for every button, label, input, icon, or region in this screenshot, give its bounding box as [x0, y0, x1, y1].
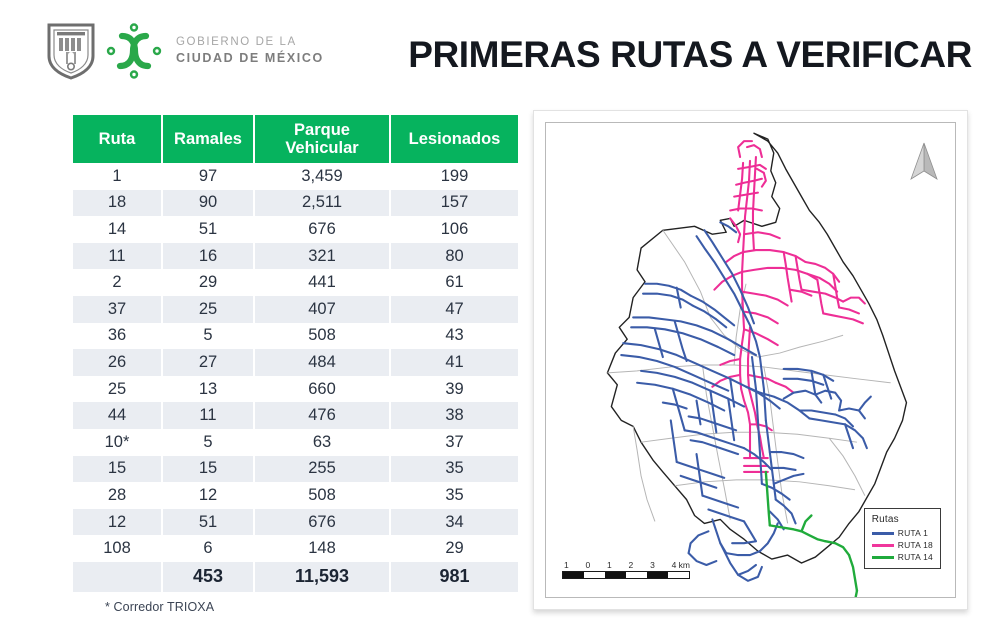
cell-ramales: 29 — [163, 269, 255, 296]
cell-ruta: 1 — [73, 163, 163, 190]
cell-ruta: 25 — [73, 376, 163, 403]
cell-parque-vehicular: 321 — [255, 243, 391, 270]
scalebar-label: 3 — [650, 560, 655, 570]
cell-ramales: 27 — [163, 349, 255, 376]
cell-ramales: 90 — [163, 190, 255, 217]
page-title: PRIMERAS RUTAS A VERIFICAR — [408, 34, 972, 76]
legend-title: Rutas — [872, 514, 933, 525]
table-row: 1451676106 — [73, 216, 518, 243]
map-panel: 101234 km Rutas RUTA 1RUTA 18RUTA 14 — [533, 110, 968, 610]
scalebar-segment — [584, 572, 605, 578]
map-frame[interactable]: 101234 km Rutas RUTA 1RUTA 18RUTA 14 — [545, 122, 956, 598]
column-header-lesionados: Lesionados — [391, 115, 518, 163]
cell-parque-vehicular: 660 — [255, 376, 391, 403]
cell-ramales: 11 — [163, 402, 255, 429]
scalebar-segment — [605, 572, 626, 578]
table-row: 10*56337 — [73, 429, 518, 456]
routes-table-container: Ruta Ramales Parque Vehicular Lesionados… — [73, 115, 518, 592]
cell-lesionados: 106 — [391, 216, 518, 243]
cell-lesionados: 41 — [391, 349, 518, 376]
cell-lesionados: 61 — [391, 269, 518, 296]
cell-parque-vehicular: 476 — [255, 402, 391, 429]
brand-text: GOBIERNO DE LA CIUDAD DE MÉXICO — [176, 36, 324, 66]
cell-lesionados: 35 — [391, 456, 518, 483]
cell-ruta: 2 — [73, 269, 163, 296]
cell-lesionados: 35 — [391, 482, 518, 509]
brand-line-1: GOBIERNO DE LA — [176, 36, 324, 50]
cell-ruta: 18 — [73, 190, 163, 217]
cdmx-knot-logo-icon — [106, 22, 162, 80]
brand-line-2: CIUDAD DE MÉXICO — [176, 51, 324, 66]
cell-parque-vehicular: 676 — [255, 216, 391, 243]
cell-parque-vehicular: 3,459 — [255, 163, 391, 190]
table-row: 262748441 — [73, 349, 518, 376]
cell-lesionados: 37 — [391, 429, 518, 456]
table-row: 18902,511157 — [73, 190, 518, 217]
cell-ruta: 36 — [73, 323, 163, 350]
legend-item-label: RUTA 1 — [898, 528, 928, 538]
table-row: 251366039 — [73, 376, 518, 403]
legend-item-label: RUTA 18 — [898, 540, 933, 550]
cell-parque-vehicular: 148 — [255, 535, 391, 562]
scalebar-label: 1 — [564, 560, 569, 570]
cell-lesionados: 34 — [391, 509, 518, 536]
scalebar-label: 2 — [629, 560, 634, 570]
total-lesionados: 981 — [391, 562, 518, 592]
page-header: GOBIERNO DE LA CIUDAD DE MÉXICO PRIMERAS… — [0, 0, 1000, 100]
cell-ruta: 12 — [73, 509, 163, 536]
scalebar-label: 1 — [607, 560, 612, 570]
ruta-14-lines — [766, 472, 857, 597]
table-header-row: Ruta Ramales Parque Vehicular Lesionados — [73, 115, 518, 163]
table-row: 372540747 — [73, 296, 518, 323]
column-header-parque-line1: Parque — [294, 121, 350, 139]
legend-items: RUTA 1RUTA 18RUTA 14 — [872, 528, 933, 562]
table-row: 111632180 — [73, 243, 518, 270]
cell-lesionados: 39 — [391, 376, 518, 403]
table-row: 281250835 — [73, 482, 518, 509]
cell-ruta: 10* — [73, 429, 163, 456]
cell-lesionados: 29 — [391, 535, 518, 562]
legend-item: RUTA 1 — [872, 528, 933, 538]
scalebar-label: 0 — [586, 560, 591, 570]
cell-ramales: 6 — [163, 535, 255, 562]
table-row: 441147638 — [73, 402, 518, 429]
cell-ramales: 16 — [163, 243, 255, 270]
cell-lesionados: 47 — [391, 296, 518, 323]
table-row: 151525535 — [73, 456, 518, 483]
scalebar-segment — [668, 572, 689, 578]
cell-parque-vehicular: 63 — [255, 429, 391, 456]
cell-ruta: 37 — [73, 296, 163, 323]
column-header-parque-line2: Vehicular — [285, 139, 358, 157]
column-header-ramales: Ramales — [163, 115, 255, 163]
cell-lesionados: 38 — [391, 402, 518, 429]
cell-parque-vehicular: 508 — [255, 482, 391, 509]
cell-parque-vehicular: 407 — [255, 296, 391, 323]
ruta-18-lines — [712, 141, 865, 472]
table-row: 1973,459199 — [73, 163, 518, 190]
total-ramales: 453 — [163, 562, 255, 592]
column-header-ruta: Ruta — [73, 115, 163, 163]
table-body: 1973,45919918902,51115714516761061116321… — [73, 163, 518, 592]
cell-lesionados: 43 — [391, 323, 518, 350]
cell-ruta: 28 — [73, 482, 163, 509]
cell-parque-vehicular: 255 — [255, 456, 391, 483]
legend-color-swatch — [872, 556, 894, 559]
scalebar-segment — [647, 572, 668, 578]
cell-ramales: 13 — [163, 376, 255, 403]
cell-ramales: 51 — [163, 216, 255, 243]
cell-ramales: 15 — [163, 456, 255, 483]
map-legend: Rutas RUTA 1RUTA 18RUTA 14 — [864, 508, 941, 569]
cell-ramales: 5 — [163, 429, 255, 456]
table-row: 108614829 — [73, 535, 518, 562]
table-row: 36550843 — [73, 323, 518, 350]
cell-ruta: 14 — [73, 216, 163, 243]
cell-ruta: 11 — [73, 243, 163, 270]
north-arrow-icon — [909, 141, 939, 185]
legend-item: RUTA 18 — [872, 540, 933, 550]
total-ruta — [73, 562, 163, 592]
table-head: Ruta Ramales Parque Vehicular Lesionados — [73, 115, 518, 163]
cell-lesionados: 80 — [391, 243, 518, 270]
legend-color-swatch — [872, 544, 894, 547]
scalebar-track — [562, 571, 690, 579]
cell-ruta: 26 — [73, 349, 163, 376]
cell-parque-vehicular: 676 — [255, 509, 391, 536]
scalebar-segment — [563, 572, 584, 578]
cell-ruta: 44 — [73, 402, 163, 429]
government-brand: GOBIERNO DE LA CIUDAD DE MÉXICO — [46, 22, 324, 80]
routes-table: Ruta Ramales Parque Vehicular Lesionados… — [73, 115, 518, 592]
column-header-parque-vehicular: Parque Vehicular — [255, 115, 391, 163]
scalebar-label: 4 km — [672, 560, 690, 570]
map-scalebar: 101234 km — [562, 560, 690, 579]
cell-parque-vehicular: 508 — [255, 323, 391, 350]
table-row: 22944161 — [73, 269, 518, 296]
cell-lesionados: 199 — [391, 163, 518, 190]
cell-parque-vehicular: 484 — [255, 349, 391, 376]
table-total-row: 45311,593981 — [73, 562, 518, 592]
cell-ramales: 97 — [163, 163, 255, 190]
legend-item-label: RUTA 14 — [898, 552, 933, 562]
scalebar-segment — [626, 572, 647, 578]
cell-ramales: 12 — [163, 482, 255, 509]
legend-color-swatch — [872, 532, 894, 535]
cell-ramales: 25 — [163, 296, 255, 323]
total-parque: 11,593 — [255, 562, 391, 592]
scalebar-labels: 101234 km — [562, 560, 690, 570]
table-row: 125167634 — [73, 509, 518, 536]
cdmx-coat-of-arms-icon — [46, 22, 96, 80]
cell-ramales: 5 — [163, 323, 255, 350]
cell-parque-vehicular: 2,511 — [255, 190, 391, 217]
table-footnote: * Corredor TRIOXA — [105, 600, 214, 614]
cell-lesionados: 157 — [391, 190, 518, 217]
cell-ruta: 108 — [73, 535, 163, 562]
cell-ramales: 51 — [163, 509, 255, 536]
cell-ruta: 15 — [73, 456, 163, 483]
cell-parque-vehicular: 441 — [255, 269, 391, 296]
legend-item: RUTA 14 — [872, 552, 933, 562]
